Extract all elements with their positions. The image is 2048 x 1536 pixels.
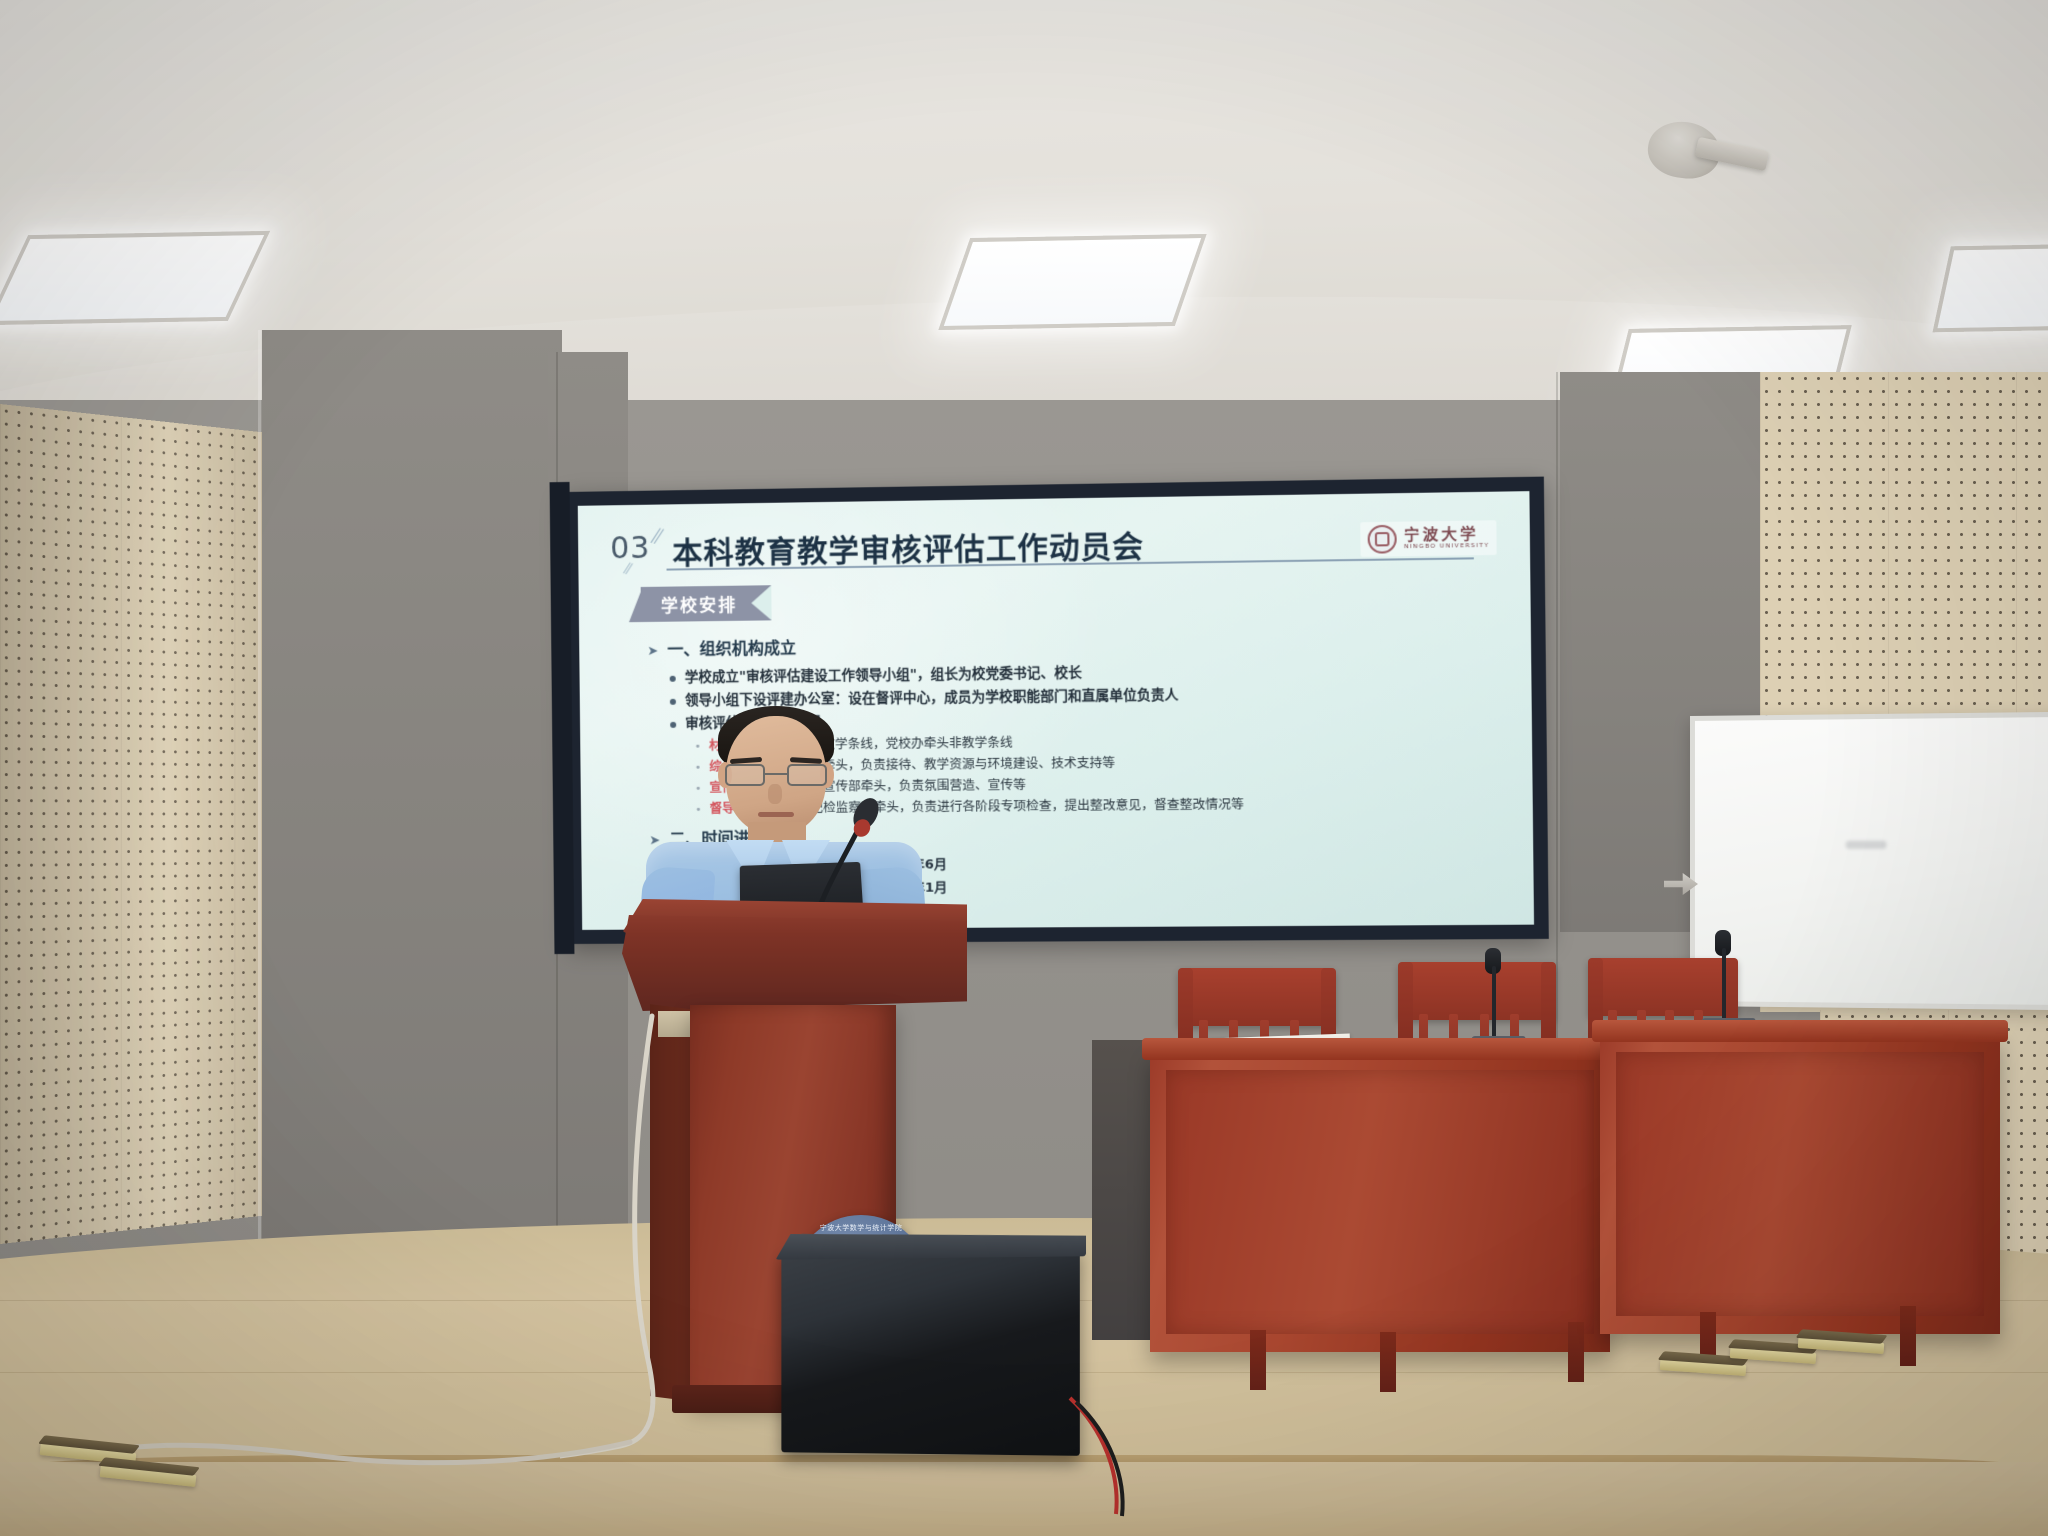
lectern-top [622, 915, 967, 1011]
lecture-hall-photo: ⫽ ⫽ 03 本科教育教学审核评估工作动员会 宁波大学 NINGBO UNIVE… [0, 0, 2048, 1536]
slash-decoration-icon: ⫽ [649, 524, 665, 551]
chair-back [1178, 968, 1336, 1026]
table-leg [1250, 1330, 1266, 1390]
table-modesty-panel [1166, 1070, 1594, 1334]
conference-table[interactable] [1600, 1034, 2000, 1334]
slide-heading-1: ➤ 一、组织机构成立 [647, 625, 1508, 660]
bullet-text: 学校成立"审核评估建设工作领导小组"，组长为校党委书记、校长 [685, 661, 1082, 686]
microphone-gooseneck [1722, 948, 1726, 1022]
wall-panel-edge [258, 330, 261, 1260]
table-top [1142, 1038, 1618, 1060]
university-seal-icon [1367, 525, 1396, 554]
table-modesty-panel [1616, 1052, 1984, 1316]
university-name-en: NINGBO UNIVERSITY [1404, 543, 1489, 551]
table-leg [1380, 1332, 1396, 1392]
speaker-cable [1060, 1390, 1200, 1520]
mouth [758, 812, 794, 817]
acoustic-panel-left-shading [0, 404, 272, 1244]
slide-header: ⫽ ⫽ 03 本科教育教学审核评估工作动员会 宁波大学 NINGBO UNIVE… [604, 510, 1507, 586]
ceiling-led-panel-light [938, 234, 1206, 330]
university-logo: 宁波大学 NINGBO UNIVERSITY [1360, 520, 1497, 557]
slide-ribbon-label: 学校安排 [641, 585, 772, 622]
nose [768, 784, 782, 804]
ceiling-led-panel-light [1933, 244, 2048, 333]
ceiling-led-panel-light [0, 231, 270, 325]
whiteboard-smudge [1846, 841, 1887, 849]
table-leg [1568, 1322, 1584, 1382]
slide-section-number: 03 [610, 531, 651, 567]
bullet-dot-icon [670, 676, 676, 682]
wall-panel-gray [262, 330, 562, 1260]
microphone-gooseneck [1492, 966, 1496, 1040]
stage-monitor-speaker [781, 1246, 1079, 1456]
university-logo-text: 宁波大学 NINGBO UNIVERSITY [1404, 526, 1490, 550]
arrow-bullet-icon: ➤ [647, 644, 658, 659]
table-top [1592, 1020, 2008, 1042]
table-shadow-box [1092, 1040, 1150, 1340]
ceiling-projector-mount [1640, 122, 1768, 184]
table-leg [1900, 1306, 1916, 1366]
heading-1-text: 一、组织机构成立 [667, 634, 796, 660]
conference-table[interactable] [1150, 1052, 1610, 1352]
